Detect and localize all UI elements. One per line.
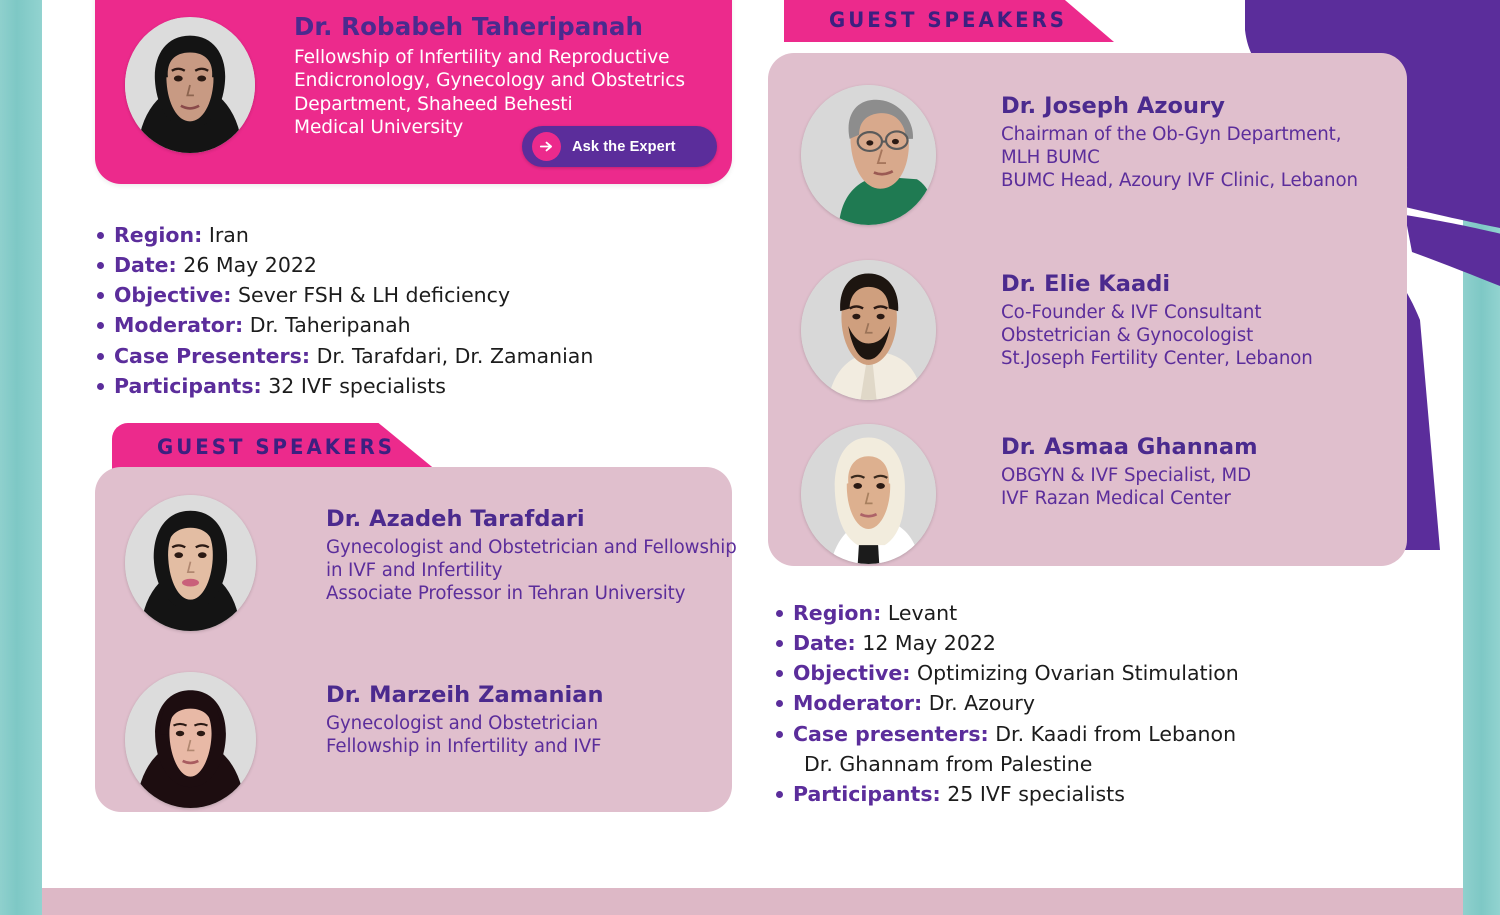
detail-label: Region: <box>793 601 881 625</box>
speaker-role-line: OBGYN & IVF Specialist, MD <box>1001 464 1258 487</box>
detail-value: 12 May 2022 <box>862 631 996 655</box>
poster-page: Dr. Robabeh Taheripanah Fellowship of In… <box>0 0 1500 915</box>
speaker-row: Dr. Marzeih Zamanian Gynecologist and Ob… <box>125 672 604 808</box>
speaker-avatar-zamanian <box>125 672 256 808</box>
speaker-role: Gynecologist and Obstetrician Fellowship… <box>326 712 604 759</box>
expert-role-line: Department, Shaheed Behesti <box>294 93 714 116</box>
detail-label: Objective: <box>114 283 231 307</box>
expert-role-line: Endicronology, Gynecology and Obstetrics <box>294 69 714 92</box>
speaker-role-line: Chairman of the Ob-Gyn Department, <box>1001 123 1358 146</box>
detail-row: Objective: Sever FSH & LH deficiency <box>93 280 593 310</box>
left-session-details: Region: Iran Date: 26 May 2022 Objective… <box>93 220 593 401</box>
detail-value: 32 IVF specialists <box>268 374 446 398</box>
detail-label: Moderator: <box>114 313 243 337</box>
speaker-info: Dr. Marzeih Zamanian Gynecologist and Ob… <box>326 672 604 758</box>
speaker-row: Dr. Azadeh Tarafdari Gynecologist and Ob… <box>125 495 737 631</box>
detail-row: Objective: Optimizing Ovarian Stimulatio… <box>772 658 1239 688</box>
detail-label: Objective: <box>793 661 910 685</box>
detail-label: Participants: <box>793 782 941 806</box>
ask-the-expert-label: Ask the Expert <box>572 139 676 155</box>
guest-speakers-badge-label: GUEST SPEAKERS <box>157 435 395 459</box>
detail-value: Levant <box>888 601 957 625</box>
detail-label: Case presenters: <box>793 722 989 746</box>
detail-row: Date: 12 May 2022 <box>772 628 1239 658</box>
speaker-role-line: Gynecologist and Obstetrician <box>326 712 604 735</box>
detail-row: Region: Iran <box>93 220 593 250</box>
detail-row: Moderator: Dr. Azoury <box>772 688 1239 718</box>
speaker-name: Dr. Elie Kaadi <box>1001 272 1313 298</box>
detail-value: Dr. Ghannam from Palestine <box>804 752 1092 776</box>
right-speakers-panel: Dr. Joseph Azoury Chairman of the Ob-Gyn… <box>768 53 1407 566</box>
expert-card: Dr. Robabeh Taheripanah Fellowship of In… <box>95 0 732 184</box>
speaker-role: Chairman of the Ob-Gyn Department, MLH B… <box>1001 123 1358 193</box>
speaker-role-line: MLH BUMC <box>1001 146 1358 169</box>
speaker-role: Co-Founder & IVF Consultant Obstetrician… <box>1001 301 1313 371</box>
detail-row-continuation: Dr. Ghannam from Palestine <box>772 749 1239 779</box>
detail-value: Dr. Taheripanah <box>250 313 411 337</box>
speaker-role: OBGYN & IVF Specialist, MD IVF Razan Med… <box>1001 464 1258 511</box>
detail-label: Participants: <box>114 374 262 398</box>
speaker-name: Dr. Asmaa Ghannam <box>1001 435 1258 461</box>
speaker-role-line: Co-Founder & IVF Consultant <box>1001 301 1313 324</box>
expert-name: Dr. Robabeh Taheripanah <box>294 14 714 41</box>
speaker-role: Gynecologist and Obstetrician and Fellow… <box>326 536 737 606</box>
detail-label: Date: <box>793 631 856 655</box>
expert-info: Dr. Robabeh Taheripanah Fellowship of In… <box>294 14 714 140</box>
speaker-role-line: Associate Professor in Tehran University <box>326 582 737 605</box>
detail-row: Date: 26 May 2022 <box>93 250 593 280</box>
speaker-name: Dr. Azadeh Tarafdari <box>326 507 737 533</box>
speaker-avatar-azoury <box>801 85 936 225</box>
speaker-row: Dr. Joseph Azoury Chairman of the Ob-Gyn… <box>801 85 1358 225</box>
detail-row: Case presenters: Dr. Kaadi from Lebanon <box>772 719 1239 749</box>
speaker-name: Dr. Joseph Azoury <box>1001 94 1358 120</box>
detail-label: Region: <box>114 223 202 247</box>
expert-role-line: Fellowship of Infertility and Reproducti… <box>294 46 714 69</box>
speaker-info: Dr. Azadeh Tarafdari Gynecologist and Ob… <box>326 495 737 606</box>
teal-right-stripe <box>1463 0 1500 915</box>
detail-value: Sever FSH & LH deficiency <box>238 283 510 307</box>
detail-label: Case Presenters: <box>114 344 310 368</box>
detail-value: Dr. Azoury <box>929 691 1035 715</box>
speaker-info: Dr. Joseph Azoury Chairman of the Ob-Gyn… <box>1001 85 1358 193</box>
detail-label: Moderator: <box>793 691 922 715</box>
guest-speakers-badge-left: GUEST SPEAKERS <box>112 423 437 471</box>
speaker-role-line: Gynecologist and Obstetrician and Fellow… <box>326 536 737 559</box>
arrow-right-circle-icon <box>532 132 561 161</box>
right-session-details: Region: Levant Date: 12 May 2022 Objecti… <box>772 598 1239 809</box>
ask-the-expert-button[interactable]: Ask the Expert <box>522 126 717 167</box>
speaker-role-line: Fellowship in Infertility and IVF <box>326 735 604 758</box>
speaker-avatar-kaadi <box>801 260 936 400</box>
speaker-role-line: BUMC Head, Azoury IVF Clinic, Lebanon <box>1001 169 1358 192</box>
detail-value: 26 May 2022 <box>183 253 317 277</box>
speaker-role-line: IVF Razan Medical Center <box>1001 487 1258 510</box>
bottom-pink-band <box>42 888 1463 915</box>
detail-row: Participants: 32 IVF specialists <box>93 371 593 401</box>
detail-value: Dr. Tarafdari, Dr. Zamanian <box>317 344 594 368</box>
speaker-avatar-tarafdari <box>125 495 256 631</box>
speaker-role-line: Obstetrician & Gynocologist <box>1001 324 1313 347</box>
detail-row: Region: Levant <box>772 598 1239 628</box>
teal-left-stripe <box>0 0 42 915</box>
left-speakers-panel: Dr. Azadeh Tarafdari Gynecologist and Ob… <box>95 467 732 812</box>
speaker-role-line: in IVF and Infertility <box>326 559 737 582</box>
speaker-info: Dr. Elie Kaadi Co-Founder & IVF Consulta… <box>1001 260 1313 371</box>
speaker-info: Dr. Asmaa Ghannam OBGYN & IVF Specialist… <box>1001 424 1258 510</box>
speaker-row: Dr. Elie Kaadi Co-Founder & IVF Consulta… <box>801 260 1313 400</box>
detail-row: Participants: 25 IVF specialists <box>772 779 1239 809</box>
detail-row: Case Presenters: Dr. Tarafdari, Dr. Zama… <box>93 341 593 371</box>
detail-label: Date: <box>114 253 177 277</box>
expert-avatar <box>125 17 255 153</box>
speaker-avatar-ghannam <box>801 424 936 564</box>
guest-speakers-badge-right: GUEST SPEAKERS <box>784 0 1114 42</box>
speaker-row: Dr. Asmaa Ghannam OBGYN & IVF Specialist… <box>801 424 1258 564</box>
detail-value: Dr. Kaadi from Lebanon <box>995 722 1236 746</box>
speaker-name: Dr. Marzeih Zamanian <box>326 683 604 709</box>
detail-value: Iran <box>209 223 249 247</box>
detail-value: 25 IVF specialists <box>947 782 1125 806</box>
detail-row: Moderator: Dr. Taheripanah <box>93 310 593 340</box>
speaker-role-line: St.Joseph Fertility Center, Lebanon <box>1001 347 1313 370</box>
guest-speakers-badge-label: GUEST SPEAKERS <box>829 8 1067 32</box>
detail-value: Optimizing Ovarian Stimulation <box>917 661 1239 685</box>
